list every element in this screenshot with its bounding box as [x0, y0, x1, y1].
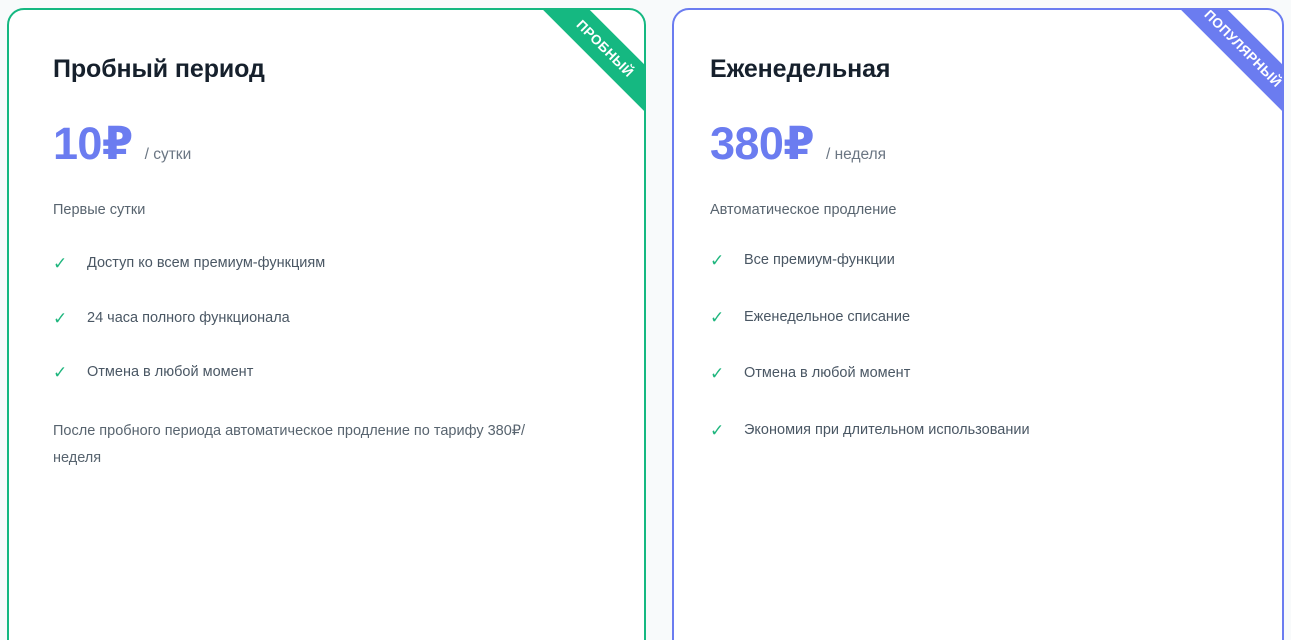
feature-label: Отмена в любой момент	[744, 364, 910, 384]
plan-feature-list: ✓ Доступ ко всем премиум-функциям ✓ 24 ч…	[53, 254, 600, 383]
plan-subtitle: Первые сутки	[53, 200, 600, 221]
plan-price-amount: 10₽	[53, 121, 133, 166]
check-icon: ✓	[53, 309, 70, 329]
plan-feature-list: ✓ Все премиум-функции ✓ Еженедельное спи…	[710, 251, 1238, 440]
plan-card-trial[interactable]: ПРОБНЫЙ Пробный период 10₽ / сутки Первы…	[7, 8, 646, 640]
feature-label: Все премиум-функции	[744, 251, 895, 271]
plan-price-period: / неделя	[826, 146, 886, 164]
plan-title: Еженедельная	[710, 54, 1238, 84]
plan-price-row: 380₽ / неделя	[710, 121, 1238, 166]
check-icon: ✓	[53, 254, 70, 274]
plan-card-body: Еженедельная 380₽ / неделя Автоматическо…	[674, 10, 1282, 440]
check-icon: ✓	[710, 251, 727, 271]
list-item: ✓ Отмена в любой момент	[53, 363, 600, 383]
check-icon: ✓	[710, 308, 727, 328]
list-item: ✓ Экономия при длительном использовании	[710, 421, 1238, 441]
plan-card-body: Пробный период 10₽ / сутки Первые сутки …	[9, 10, 644, 471]
check-icon: ✓	[710, 364, 727, 384]
check-icon: ✓	[53, 363, 70, 383]
pricing-plans-container: ПРОБНЫЙ Пробный период 10₽ / сутки Первы…	[0, 0, 1291, 640]
plan-title: Пробный период	[53, 54, 600, 84]
feature-label: Еженедельное списание	[744, 308, 910, 328]
check-icon: ✓	[710, 421, 727, 441]
feature-label: Отмена в любой момент	[87, 363, 253, 383]
plan-footnote: После пробного периода автоматическое пр…	[53, 418, 553, 472]
list-item: ✓ Отмена в любой момент	[710, 364, 1238, 384]
feature-label: Экономия при длительном использовании	[744, 421, 1030, 441]
plan-price-row: 10₽ / сутки	[53, 121, 600, 166]
feature-label: Доступ ко всем премиум-функциям	[87, 254, 325, 274]
plan-subtitle: Автоматическое продление	[710, 200, 1238, 221]
list-item: ✓ Все премиум-функции	[710, 251, 1238, 271]
feature-label: 24 часа полного функционала	[87, 309, 290, 329]
plan-price-amount: 380₽	[710, 121, 814, 166]
list-item: ✓ Доступ ко всем премиум-функциям	[53, 254, 600, 274]
list-item: ✓ 24 часа полного функционала	[53, 309, 600, 329]
plan-card-weekly[interactable]: ПОПУЛЯРНЫЙ Еженедельная 380₽ / неделя Ав…	[672, 8, 1284, 640]
plan-price-period: / сутки	[145, 146, 192, 164]
list-item: ✓ Еженедельное списание	[710, 308, 1238, 328]
